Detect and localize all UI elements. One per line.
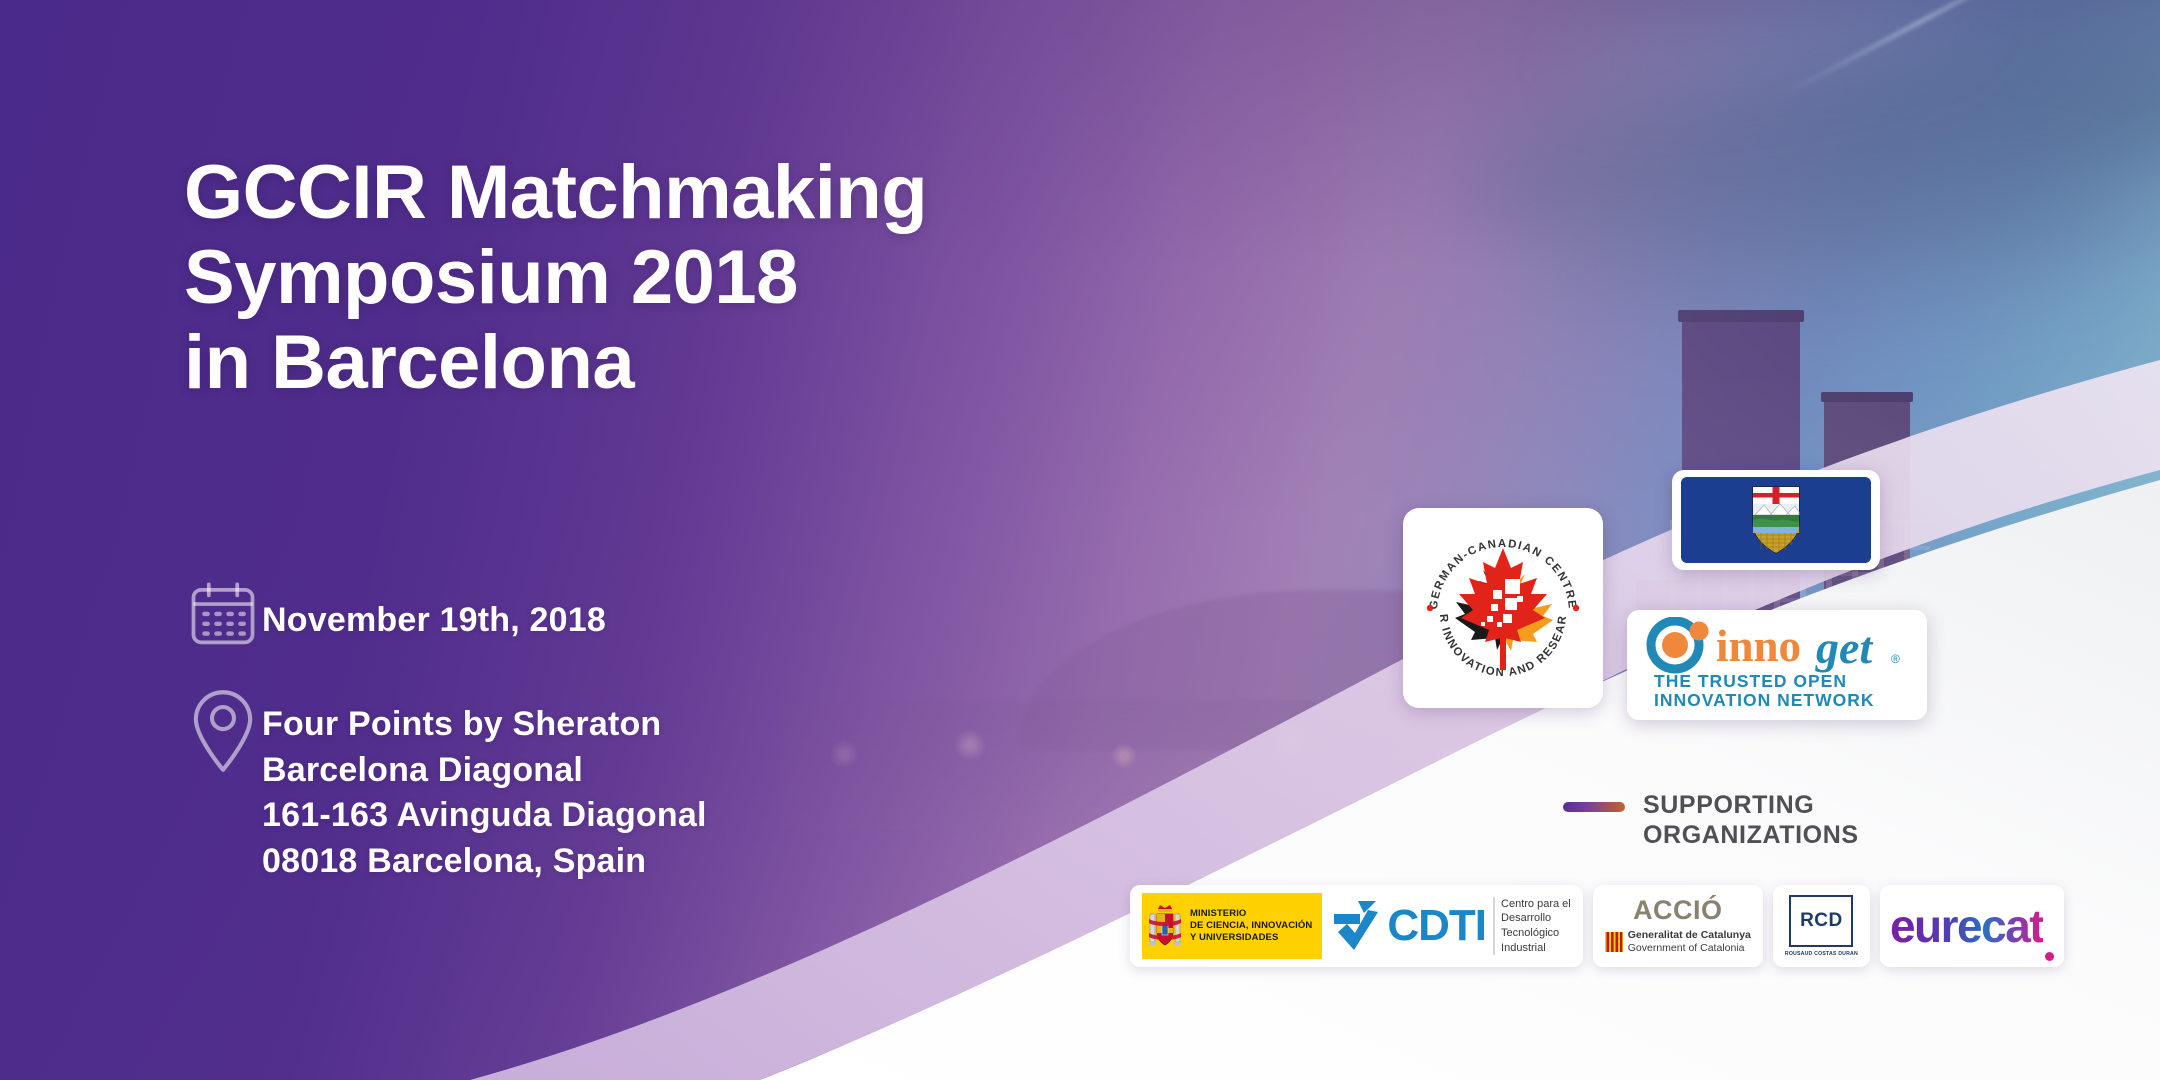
innoget-logo: inno get ® THE TRUSTED OPEN INNOVATION N… [1638,617,1916,713]
rcd-logo: RCD ROUSAUD COSTAS DURAN [1785,895,1858,957]
supporting-organizations-header: SUPPORTING ORGANIZATIONS [1563,790,1859,850]
location-pin-icon [184,688,262,774]
org-card-accio: ACCIÓ Generalitat de Catalunya Gove [1593,885,1763,967]
org-card-eurecat: eurecat [1880,885,2064,967]
supporting-organizations-label: SUPPORTING ORGANIZATIONS [1643,790,1859,850]
event-details: November 19th, 2018 Four Points by Shera… [184,580,707,884]
title-line-1: GCCIR Matchmaking [184,150,1304,235]
accio-line-2: Government of Catalonia [1628,942,1751,955]
event-date: November 19th, 2018 [262,580,606,639]
cdti-check-arrow-icon [1334,898,1380,954]
svg-text:inno: inno [1716,621,1801,671]
org-card-rcd: RCD ROUSAUD COSTAS DURAN [1773,885,1870,967]
venue-line-3: 161-163 Avinguda Diagonal [262,793,707,839]
eurecat-dot-icon [2045,952,2054,961]
rcd-box: RCD [1789,895,1853,947]
generalitat-block: Generalitat de Catalunya Government of C… [1605,929,1751,955]
rcd-subtitle: ROUSAUD COSTAS DURAN [1785,951,1858,957]
cdti-line-3: Tecnológico [1501,926,1571,941]
cdti-line-2: Desarrollo [1501,911,1571,926]
spain-coat-of-arms-icon [1148,901,1182,951]
supporting-label-line-1: SUPPORTING [1643,790,1859,820]
title-line-3: in Barcelona [184,320,1304,405]
gccir-logo: GERMAN-CANADIAN CENTRE FOR INNOVATION AN… [1413,518,1593,698]
gradient-dash-icon [1563,802,1625,812]
venue-line-1: Four Points by Sheraton [262,702,707,748]
venue-row: Four Points by Sheraton Barcelona Diagon… [184,688,707,884]
svg-text:®: ® [1891,652,1900,666]
accio-line-1: Generalitat de Catalunya [1628,929,1751,941]
event-banner: GCCIR Matchmaking Symposium 2018 in Barc… [0,0,2160,1080]
cdti-line-1: Centro para el [1501,897,1571,912]
ministerio-line-3: Y UNIVERSIDADES [1190,932,1312,944]
page-title: GCCIR Matchmaking Symposium 2018 in Barc… [184,150,1304,405]
supporting-label-line-2: ORGANIZATIONS [1643,820,1859,850]
alberta-flag [1681,477,1871,563]
catalonia-flag-icon [1605,932,1623,952]
svg-text:THE TRUSTED OPEN: THE TRUSTED OPEN [1654,671,1847,691]
svg-text:INNOVATION NETWORK: INNOVATION NETWORK [1654,690,1875,710]
org-card-ministerio-cdti: MINISTERIO DE CIENCIA, INNOVACIÓN Y UNIV… [1130,885,1583,967]
title-line-2: Symposium 2018 [184,235,1304,320]
cdti-wordmark: CDTI [1387,907,1486,945]
ministerio-line-2: DE CIENCIA, INNOVACIÓN [1190,920,1312,932]
supporting-organizations-logos: MINISTERIO DE CIENCIA, INNOVACIÓN Y UNIV… [1130,885,2064,967]
calendar-icon [184,580,262,650]
event-venue: Four Points by Sheraton Barcelona Diagon… [262,688,707,884]
rcd-wordmark: RCD [1800,910,1843,932]
innoget-logo-card: inno get ® THE TRUSTED OPEN INNOVATION N… [1627,610,1927,720]
ministerio-line-1: MINISTERIO [1190,908,1312,920]
svg-text:get: get [1815,622,1873,673]
accio-subtitle: Generalitat de Catalunya Government of C… [1628,929,1751,955]
gccir-logo-card: GERMAN-CANADIAN CENTRE FOR INNOVATION AN… [1403,508,1603,708]
alberta-flag-card [1672,470,1880,570]
ministerio-text: MINISTERIO DE CIENCIA, INNOVACIÓN Y UNIV… [1190,908,1312,943]
ministerio-logo: MINISTERIO DE CIENCIA, INNOVACIÓN Y UNIV… [1142,893,1322,959]
cdti-subtitle: Centro para el Desarrollo Tecnológico In… [1493,897,1571,955]
accio-logo: ACCIÓ Generalitat de Catalunya Gove [1605,897,1751,955]
venue-line-4: 08018 Barcelona, Spain [262,839,707,885]
cdti-line-4: Industrial [1501,941,1571,956]
accio-wordmark: ACCIÓ [1633,897,1723,924]
date-row: November 19th, 2018 [184,580,707,650]
venue-line-2: Barcelona Diagonal [262,748,707,794]
eurecat-wordmark: eurecat [1890,903,2043,949]
cdti-logo: CDTI Centro para el Desarrollo Tecnológi… [1322,897,1570,955]
